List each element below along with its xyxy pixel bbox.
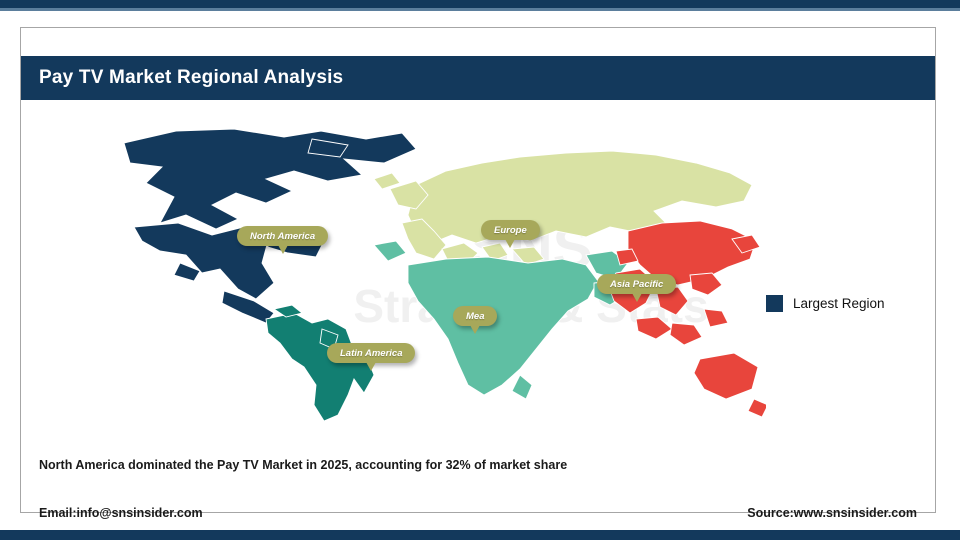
map-label-latin-america-text: Latin America — [327, 348, 415, 359]
world-map — [116, 123, 766, 423]
map-label-north-america-text: North America — [237, 231, 328, 242]
map-label-north-america[interactable]: North America — [237, 226, 328, 246]
map-label-mea-text: Mea — [453, 311, 497, 322]
top-accent-bar — [0, 0, 960, 8]
caption-text: North America dominated the Pay TV Marke… — [39, 458, 567, 472]
map-label-mea[interactable]: Mea — [453, 306, 497, 326]
map-label-latin-america[interactable]: Latin America — [327, 343, 415, 363]
map-label-europe-text: Europe — [481, 225, 540, 236]
footer-source[interactable]: Source:www.snsinsider.com — [747, 506, 917, 520]
region-asia-pacific — [608, 221, 766, 417]
legend-label: Largest Region — [793, 296, 885, 311]
map-container: SNS Strategy & Stats — [21, 123, 935, 443]
top-accent-line — [0, 8, 960, 11]
footer-email[interactable]: Email:info@snsinsider.com — [39, 506, 203, 520]
region-mea — [374, 241, 628, 399]
legend-swatch-icon — [766, 295, 783, 312]
map-label-europe[interactable]: Europe — [481, 220, 540, 240]
region-latin-america — [266, 305, 374, 421]
map-label-asia-pacific[interactable]: Asia Pacific — [597, 274, 676, 294]
header-bar: Pay TV Market Regional Analysis — [21, 56, 935, 100]
page-title: Pay TV Market Regional Analysis — [39, 67, 343, 89]
map-label-asia-pacific-text: Asia Pacific — [597, 279, 676, 290]
legend: Largest Region — [766, 295, 885, 312]
slide-card: Pay TV Market Regional Analysis SNS Stra… — [20, 27, 936, 513]
bottom-accent-bar — [0, 530, 960, 540]
